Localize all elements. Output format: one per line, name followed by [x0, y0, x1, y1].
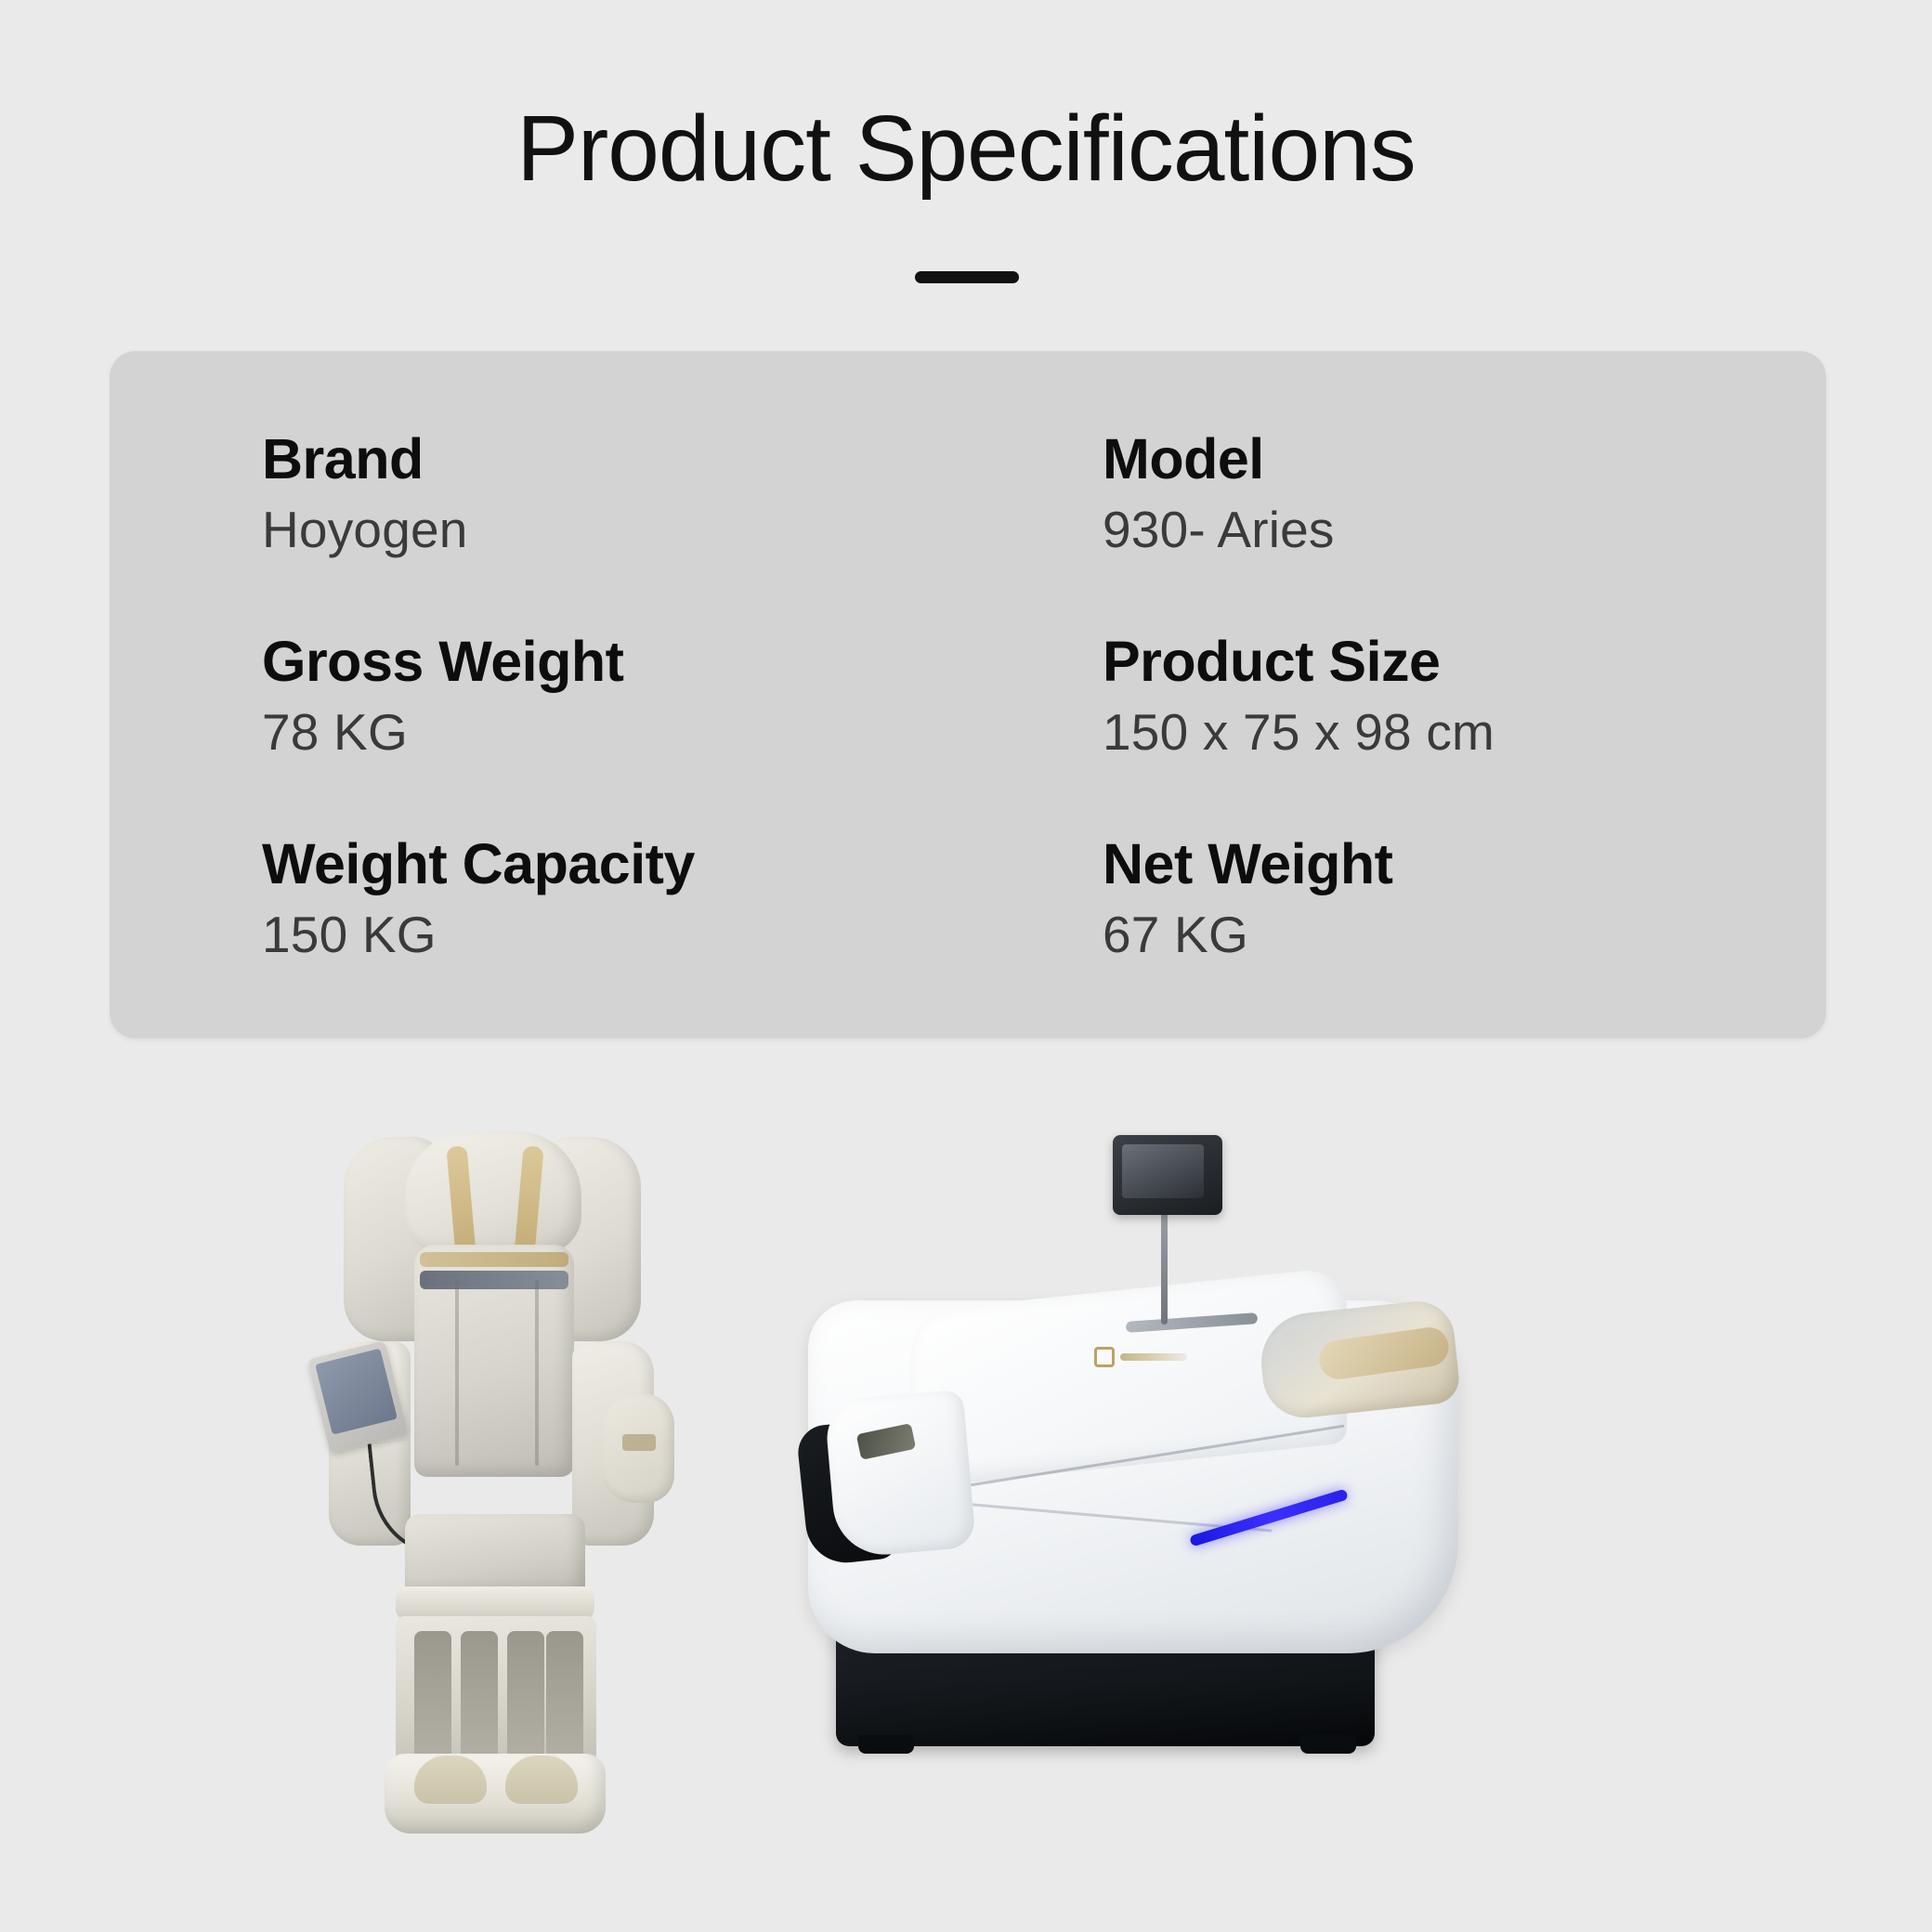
- spec-label-weight-capacity: Weight Capacity: [262, 832, 1103, 895]
- chair-seam-right: [535, 1280, 539, 1466]
- product-figures: 98 cm 75 cm 88 cm 170 cm: [0, 1068, 1932, 1932]
- spec-value-product-size: 150 x 75 x 98 cm: [1103, 704, 1711, 762]
- chair-foot-well-right: [505, 1756, 578, 1804]
- spec-item-gross-weight: Gross Weight 78 KG: [262, 630, 1103, 762]
- spec-label-brand: Brand: [262, 427, 1103, 490]
- chair-footrest-shell: [824, 1390, 976, 1559]
- specification-card: Brand Hoyogen Model 930- Aries Gross Wei…: [110, 351, 1826, 1038]
- tablet-screen: [315, 1349, 398, 1435]
- brand-mark-icon: [1094, 1347, 1115, 1367]
- spec-label-net-weight: Net Weight: [1103, 832, 1711, 895]
- chair-calf-pad: [507, 1631, 544, 1761]
- tablet-mount-stalk: [1161, 1207, 1168, 1325]
- chair-calf-pad: [461, 1631, 498, 1761]
- massage-chair-front-view-image: [295, 1115, 685, 1839]
- page-title: Product Specifications: [0, 100, 1932, 198]
- massage-chair-side-view-image: [799, 1068, 1468, 1839]
- title-divider: [915, 271, 1019, 283]
- chair-base-foot-left: [858, 1735, 914, 1754]
- brand-wordmark: [1120, 1353, 1187, 1361]
- tablet-controller-screen: [1122, 1144, 1204, 1198]
- spec-item-net-weight: Net Weight 67 KG: [1103, 832, 1711, 964]
- spec-label-model: Model: [1103, 427, 1711, 490]
- spec-item-weight-capacity: Weight Capacity 150 KG: [262, 832, 1103, 964]
- chair-gold-stripe: [420, 1252, 568, 1267]
- chair-calf-pad: [414, 1631, 451, 1761]
- spec-value-gross-weight: 78 KG: [262, 704, 1103, 762]
- product-specification-page: Product Specifications Brand Hoyogen Mod…: [0, 0, 1932, 1932]
- spec-item-product-size: Product Size 150 x 75 x 98 cm: [1103, 630, 1711, 762]
- spec-item-brand: Brand Hoyogen: [262, 427, 1103, 559]
- spec-label-gross-weight: Gross Weight: [262, 630, 1103, 693]
- chair-foot-well-left: [414, 1756, 487, 1804]
- chair-front-illustration: [295, 1115, 685, 1839]
- spec-label-product-size: Product Size: [1103, 630, 1711, 693]
- chair-dark-stripe: [420, 1271, 568, 1289]
- chair-seat: [405, 1514, 585, 1596]
- spec-value-weight-capacity: 150 KG: [262, 907, 1103, 964]
- chair-side-logo: [622, 1434, 656, 1451]
- spec-value-model: 930- Aries: [1103, 502, 1711, 559]
- chair-calf-pad: [546, 1631, 583, 1761]
- chair-base-foot-right: [1300, 1735, 1356, 1754]
- chair-seat-lip: [396, 1586, 594, 1620]
- chair-brand-logo: [1094, 1347, 1187, 1367]
- spec-value-net-weight: 67 KG: [1103, 907, 1711, 964]
- specification-grid: Brand Hoyogen Model 930- Aries Gross Wei…: [262, 427, 1711, 964]
- spec-value-brand: Hoyogen: [262, 502, 1103, 559]
- spec-item-model: Model 930- Aries: [1103, 427, 1711, 559]
- chair-headrest: [405, 1131, 581, 1254]
